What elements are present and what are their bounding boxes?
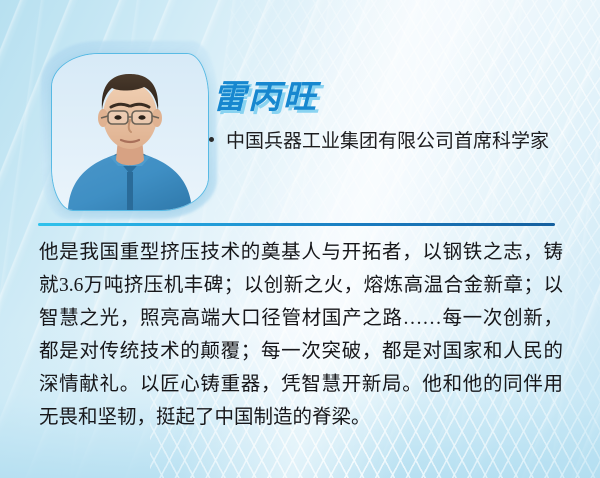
section-divider bbox=[38, 223, 555, 226]
bullet-dot-icon bbox=[209, 137, 214, 142]
profile-poster: 雷丙旺 中国兵器工业集团有限公司首席科学家 他是我国重型挤压技术的奠基人与开拓者… bbox=[0, 0, 600, 478]
person-title-text: 中国兵器工业集团有限公司首席科学家 bbox=[226, 126, 549, 158]
person-name: 雷丙旺 bbox=[213, 70, 318, 118]
person-title-row: 中国兵器工业集团有限公司首席科学家 bbox=[209, 126, 579, 158]
portrait-frame bbox=[51, 53, 209, 211]
portrait bbox=[47, 47, 211, 213]
portrait-photo-icon bbox=[52, 54, 208, 210]
biography-text: 他是我国重型挤压技术的奠基人与开拓者，以钢铁之志，铸就3.6万吨挤压机丰碑；以创… bbox=[39, 236, 563, 434]
